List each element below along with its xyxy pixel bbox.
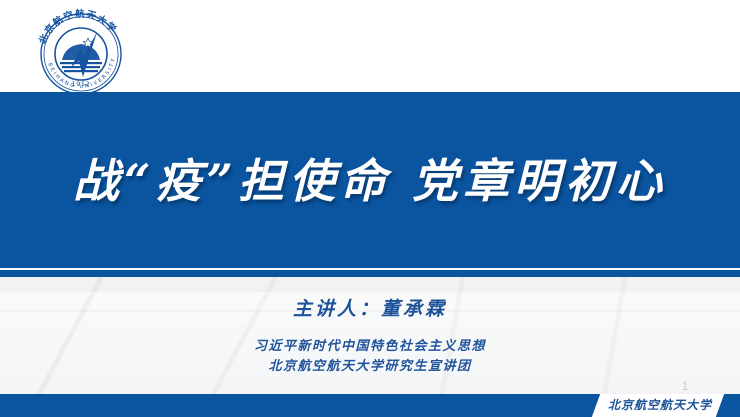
- speaker-name-line: 主讲人：董承霖: [0, 297, 740, 321]
- seal-founded-year: 1952: [72, 80, 91, 88]
- subtitle-line-1: 习近平新时代中国特色社会主义思想: [0, 337, 740, 357]
- accent-rule: [0, 270, 740, 277]
- page-number: 1: [660, 379, 710, 393]
- subtitle-block: 习近平新时代中国特色社会主义思想 北京航空航天大学研究生宣讲团: [0, 337, 740, 377]
- presentation-slide: 北京航空航天大学 BEIHANG UNIVERSITY 1952 战“疫”担使命: [0, 0, 740, 417]
- slide-main-title: 战“疫”担使命 党章明初心: [0, 150, 740, 212]
- subtitle-line-2: 北京航空航天大学研究生宣讲团: [0, 357, 740, 377]
- beihang-university-seal-icon: 北京航空航天大学 BEIHANG UNIVERSITY 1952: [31, 5, 131, 98]
- footer-university-name: 北京航空航天大学: [600, 397, 720, 414]
